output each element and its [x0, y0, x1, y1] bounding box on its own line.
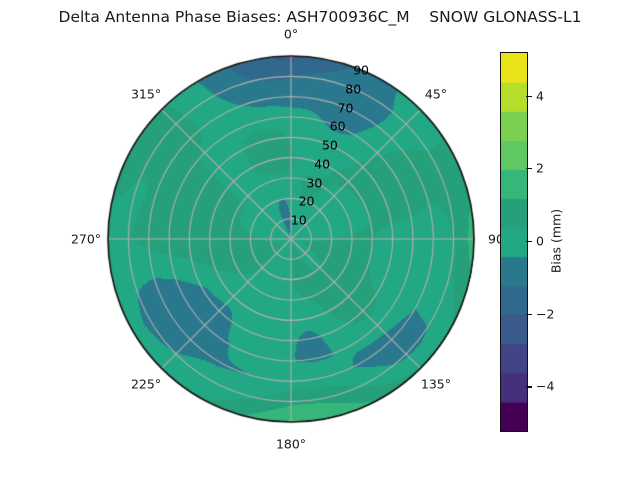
radial-tick-50: 50	[322, 138, 338, 153]
colorbar-tick-mark-1	[526, 314, 532, 315]
colorbar-tick-label-4: 4	[536, 88, 544, 103]
figure-canvas: Delta Antenna Phase Biases: ASH700936C_M…	[0, 0, 640, 480]
angular-tick-315: 315°	[131, 87, 161, 102]
radial-tick-20: 20	[299, 194, 315, 209]
colorbar-tick-mark-0	[526, 386, 532, 387]
colorbar-tick-mark-2	[526, 241, 532, 242]
radial-tick-40: 40	[314, 156, 330, 171]
colorbar-axis-label: Bias (mm)	[549, 209, 564, 273]
angular-tick-0: 0°	[284, 27, 298, 42]
colorbar-tick-label-0: −4	[536, 379, 554, 394]
radial-tick-90: 90	[353, 62, 369, 77]
angular-tick-45: 45°	[425, 87, 447, 102]
radial-tick-60: 60	[330, 119, 346, 134]
colorbar-tick-label-3: 2	[536, 161, 544, 176]
colorbar-gradient	[500, 52, 528, 432]
colorbar-tick-label-1: −2	[536, 306, 554, 321]
colorbar-tick-mark-4	[526, 96, 532, 97]
angular-tick-225: 225°	[131, 376, 161, 391]
colorbar-tick-mark-3	[526, 168, 532, 169]
colorbar-tick-label-2: 0	[536, 234, 544, 249]
radial-tick-10: 10	[291, 213, 307, 228]
angular-tick-135: 135°	[421, 376, 451, 391]
radial-tick-80: 80	[345, 81, 361, 96]
colorbar: −4−2024	[500, 52, 526, 430]
radial-tick-70: 70	[338, 100, 354, 115]
angular-tick-180: 180°	[276, 437, 306, 452]
radial-tick-30: 30	[306, 175, 322, 190]
angular-tick-270: 270°	[71, 232, 101, 247]
